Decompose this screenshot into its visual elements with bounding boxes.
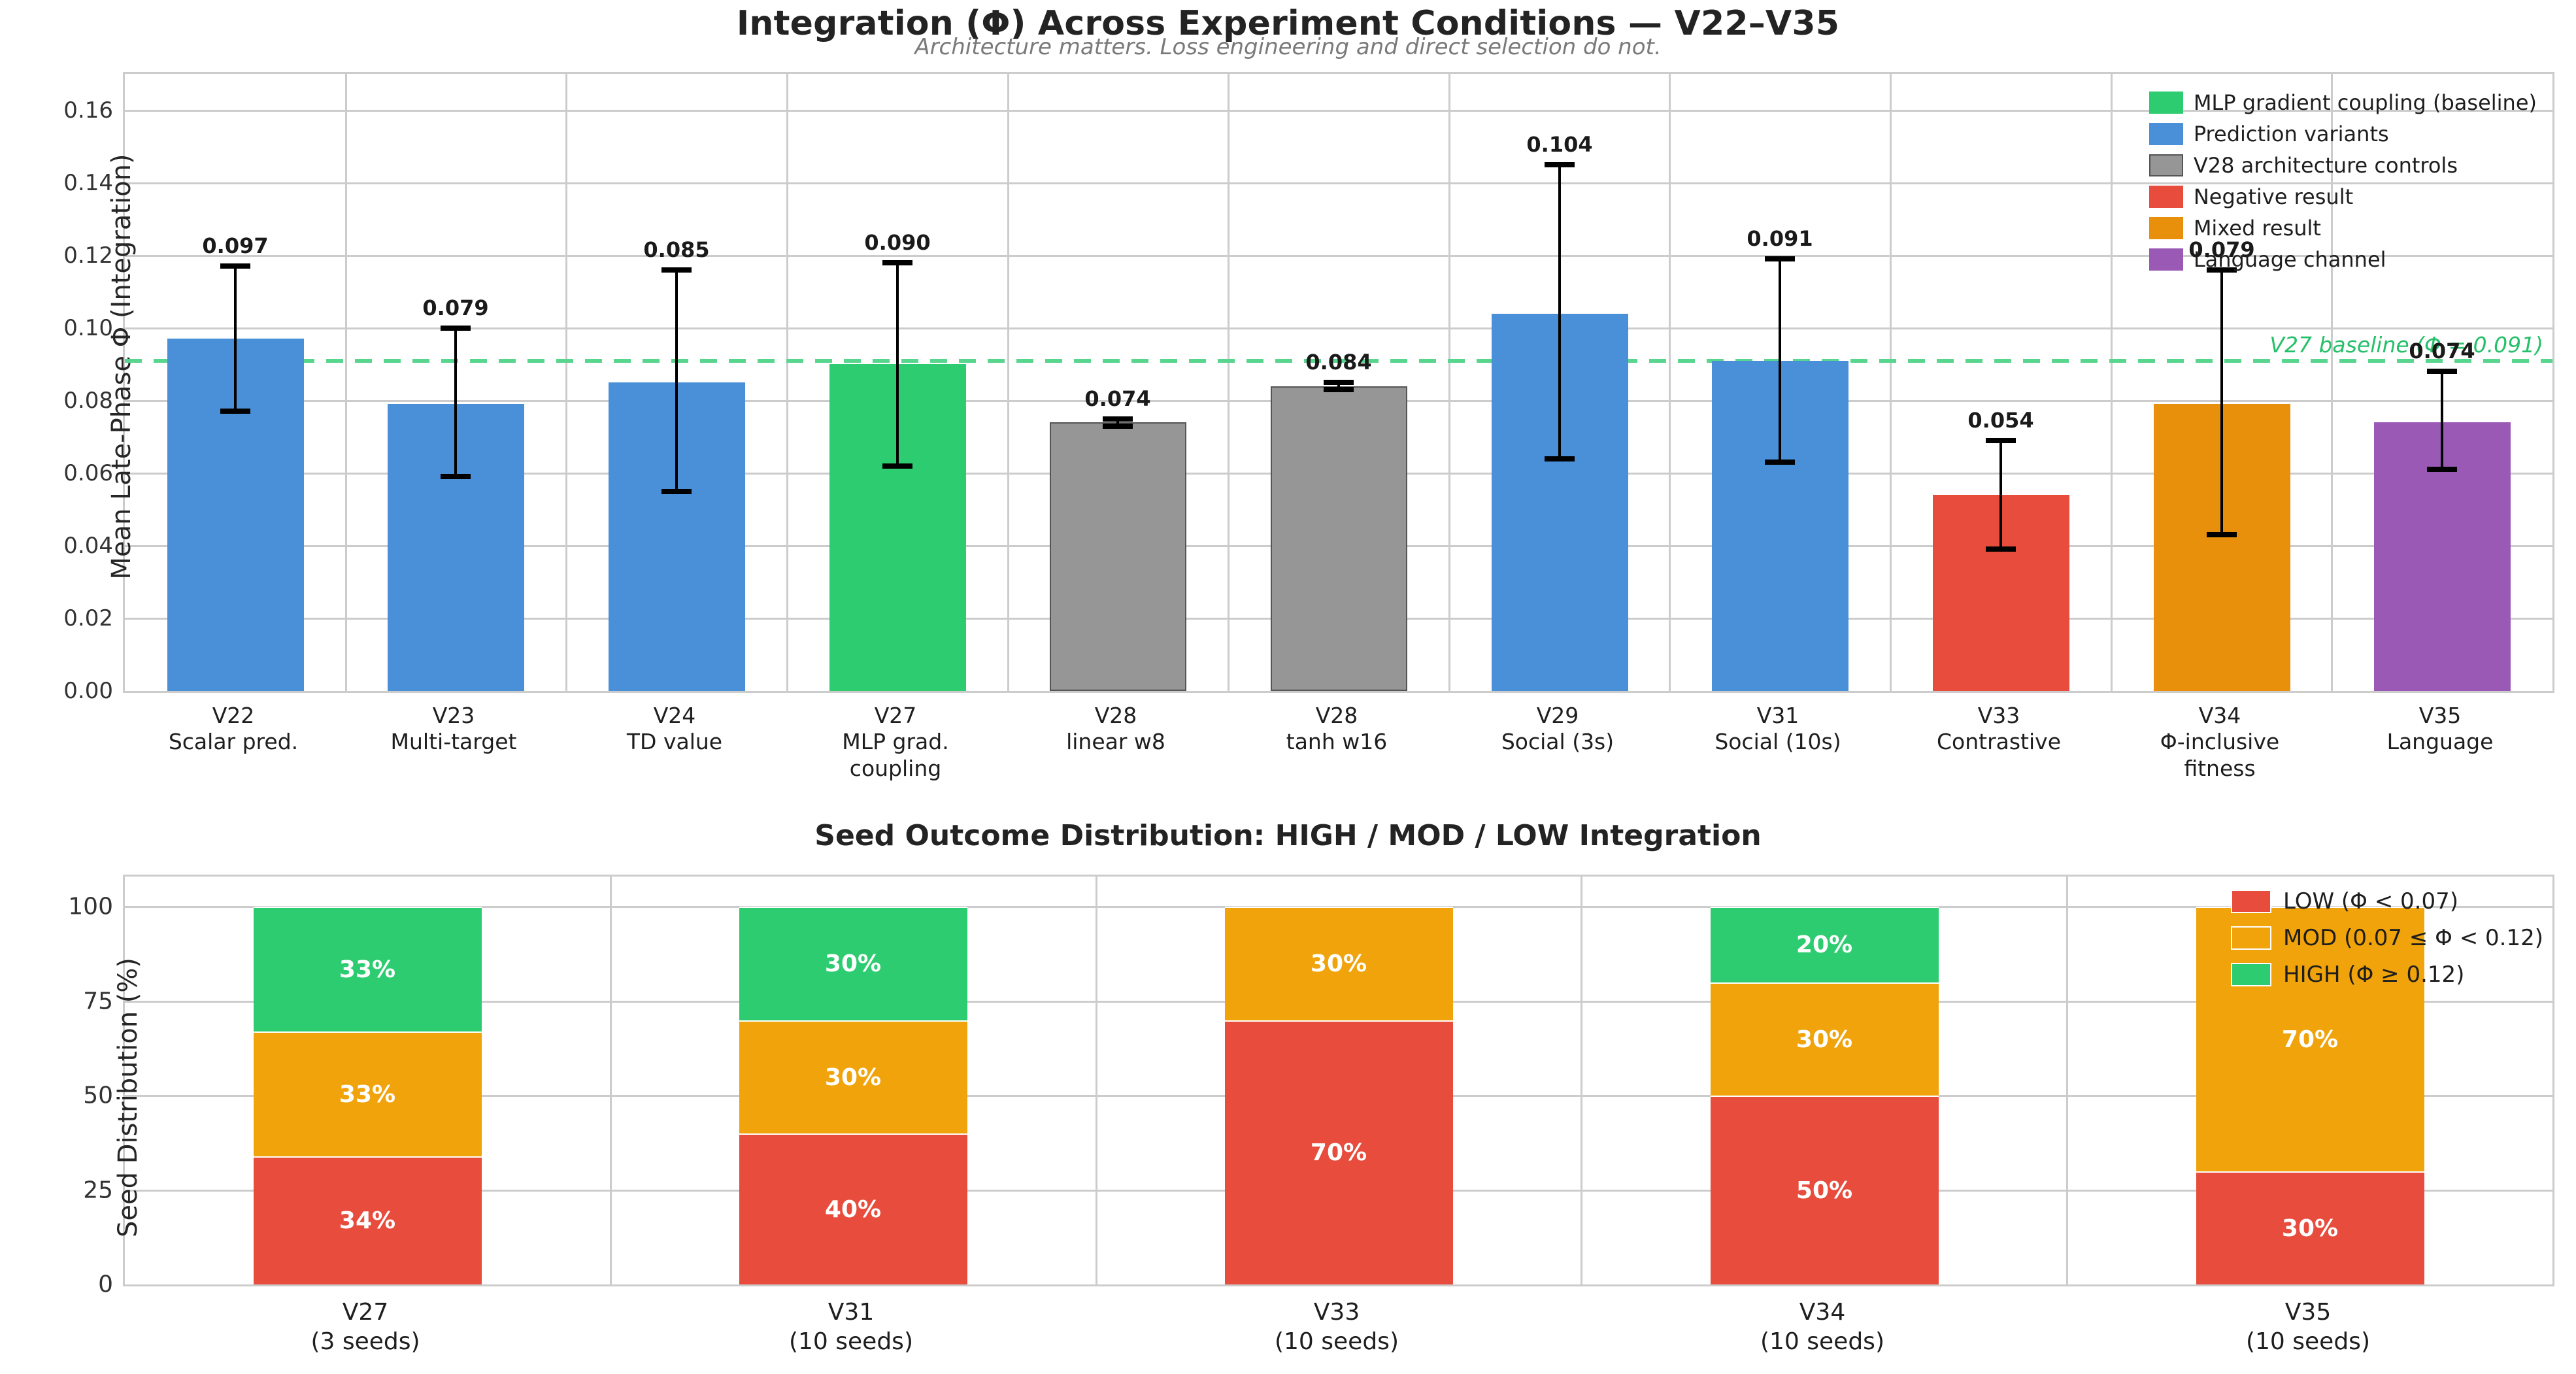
error-bar-cap-bottom [441,474,471,479]
legend2-item-0[interactable]: LOW (Φ < 0.07) [2231,883,2543,920]
legend2-label: HIGH (Φ ≥ 0.12) [2283,962,2464,988]
legend-panel1: MLP gradient coupling (baseline)Predicti… [2143,83,2543,279]
bar-v28-5[interactable] [1271,386,1407,691]
error-bar-cap-top [882,260,912,265]
error-bar-line [234,266,237,411]
stack-segment-label: 30% [1796,1026,1852,1053]
x-gridline [345,74,347,691]
y-tick-label-p1: 0.12 [0,243,113,269]
y-axis-label-p1: Mean Late-Phase Φ (Integration) [107,73,137,661]
y-tick-label-p2: 75 [0,988,113,1014]
x-gridline [1228,74,1229,691]
error-bar-cap-top [2427,369,2457,374]
x-gridline [1890,74,1892,691]
legend2-label: MOD (0.07 ≤ Φ < 0.12) [2283,925,2543,951]
stack-segment-v27-high[interactable]: 33% [254,907,482,1031]
error-bar-cap-bottom [1103,424,1133,429]
x-tick-label-p1-v35-10: V35Language [2303,703,2576,756]
error-bar-cap-bottom [2207,532,2237,537]
error-bar-line [1558,165,1561,459]
stack-segment-v34-mod[interactable]: 30% [1711,982,1939,1096]
stack-segment-v34-low[interactable]: 50% [1711,1096,1939,1284]
error-bar-line [2220,270,2223,535]
y-axis-label-p2: Seed Distribution (%) [113,843,143,1352]
stack-segment-label: 40% [825,1196,881,1223]
stack-segment-label: 30% [825,1064,881,1091]
stack-segment-v34-high[interactable]: 20% [1711,907,1939,982]
stack-segment-label: 34% [339,1207,395,1234]
stack-segment-v27-low[interactable]: 34% [254,1156,482,1284]
error-bar-line [675,270,678,492]
bar-value-label: 0.054 [1967,408,2033,433]
legend-item-1[interactable]: Prediction variants [2149,118,2537,150]
legend-swatch-blue [2149,123,2183,145]
x-gridline [1007,74,1009,691]
legend-item-0[interactable]: MLP gradient coupling (baseline) [2149,87,2537,118]
legend-item-2[interactable]: V28 architecture controls [2149,150,2537,181]
legend2-item-2[interactable]: HIGH (Φ ≥ 0.12) [2231,956,2543,993]
y-tick-label-p1: 0.02 [0,605,113,631]
stack-segment-label: 30% [1311,950,1367,977]
stack-segment-label: 33% [339,1081,395,1108]
stack-segment-label: 30% [825,950,881,977]
legend-swatch-grey [2149,154,2183,176]
y-tick-label-p1: 0.14 [0,170,113,196]
legend-label: Negative result [2194,184,2353,209]
bar-value-label: 0.091 [1747,226,1813,251]
legend-label: Mixed result [2194,216,2321,241]
legend-item-3[interactable]: Negative result [2149,181,2537,212]
y-tick-label-p1: 0.10 [0,315,113,341]
legend-swatch-orange [2149,217,2183,239]
seed-distribution-title: Seed Outcome Distribution: HIGH / MOD / … [0,819,2576,852]
legend-swatch-purple [2149,248,2183,271]
stack-segment-v27-mod[interactable]: 33% [254,1031,482,1156]
y-tick-label-p2: 50 [0,1082,113,1109]
error-bar-cap-bottom [1545,456,1575,461]
error-bar-cap-bottom [882,463,912,469]
bar-value-label: 0.084 [1305,350,1371,375]
v27-baseline-label: V27 baseline (Φ = 0.091) [2269,332,2543,358]
y-tick-label-p1: 0.08 [0,388,113,414]
bar-value-label: 0.074 [2409,339,2475,363]
error-bar-cap-top [441,326,471,331]
x-gridline [565,74,567,691]
y-tick-label-p1: 0.00 [0,678,113,704]
x-tick-label-p2-v33: V33(10 seeds) [1154,1298,1520,1356]
error-bar-cap-bottom [1986,546,2016,552]
legend2-swatch-green [2231,963,2271,986]
x-tick-label-p2-v34: V34(10 seeds) [1639,1298,2005,1356]
bar-value-label: 0.090 [864,230,930,255]
x-gridline [786,74,788,691]
x-gridline [1669,74,1671,691]
x-gridline-p2 [610,877,612,1284]
legend-label: MLP gradient coupling (baseline) [2194,90,2537,115]
y-tick-label-p2: 0 [0,1271,113,1298]
stack-segment-v31-mod[interactable]: 30% [739,1020,967,1133]
legend2-swatch-mod_orange [2231,926,2271,950]
error-bar-cap-bottom [1765,460,1795,465]
legend2-item-1[interactable]: MOD (0.07 ≤ Φ < 0.12) [2231,920,2543,956]
y-tick-label-p2: 100 [0,894,113,920]
stack-segment-v31-low[interactable]: 40% [739,1133,967,1284]
bar-value-label: 0.079 [422,295,488,320]
legend-panel2: LOW (Φ < 0.07)MOD (0.07 ≤ Φ < 0.12)HIGH … [2231,883,2543,993]
legend-swatch-green [2149,92,2183,114]
legend-item-4[interactable]: Mixed result [2149,212,2537,244]
stack-segment-v33-low[interactable]: 70% [1225,1020,1453,1284]
error-bar-cap-bottom [661,489,692,494]
error-bar-cap-top [1986,438,2016,443]
legend-label: Prediction variants [2194,122,2389,146]
x-gridline-p2 [1096,877,1097,1284]
stack-segment-label: 70% [2282,1026,2338,1053]
stack-segment-label: 50% [1796,1177,1852,1204]
bar-value-label: 0.097 [202,233,268,258]
stack-segment-v33-mod[interactable]: 30% [1225,907,1453,1020]
error-bar-cap-top [1103,416,1133,422]
error-bar-line [1779,259,1781,462]
error-bar-cap-top [220,263,250,269]
legend-swatch-red [2149,186,2183,208]
stack-segment-label: 70% [1311,1139,1367,1166]
error-bar-line [1999,441,2002,550]
bar-value-label: 0.085 [643,237,709,262]
error-bar-cap-top [1324,380,1354,385]
x-tick-label-p2-v35: V35(10 seeds) [2125,1298,2491,1356]
figure-subtitle: Architecture matters. Loss engineering a… [0,34,2576,60]
x-tick-label-p2-v31: V31(10 seeds) [668,1298,1034,1356]
stack-segment-label: 33% [339,956,395,983]
stack-segment-label: 30% [2282,1215,2338,1242]
error-bar-cap-top [1545,162,1575,167]
stack-segment-v35-low[interactable]: 30% [2196,1171,2424,1284]
legend2-label: LOW (Φ < 0.07) [2283,888,2458,914]
x-gridline [1448,74,1450,691]
bar-value-label: 0.104 [1526,132,1592,157]
legend2-swatch-red [2231,890,2271,913]
x-tick-label-p2-v27: V27(3 seeds) [182,1298,548,1356]
error-bar-cap-top [661,267,692,273]
y-gridline [125,327,2552,329]
x-gridline [2111,74,2113,691]
x-gridline-p2 [2066,877,2068,1284]
error-bar-line [896,263,899,466]
legend-item-5[interactable]: Language channel [2149,244,2537,275]
stack-segment-label: 20% [1796,931,1852,958]
seed-distribution-panel: 0255075100Seed Distribution (%)34%33%33%… [123,875,2554,1286]
legend-label: V28 architecture controls [2194,153,2458,178]
error-bar-cap-bottom [2427,467,2457,472]
bar-value-label: 0.074 [1084,386,1150,411]
integration-bar-chart-panel: 0.000.020.040.060.080.100.120.140.16Mean… [123,72,2554,693]
error-bar-line [454,328,457,477]
stack-segment-v31-high[interactable]: 30% [739,907,967,1020]
legend-label: Language channel [2194,247,2386,272]
error-bar-cap-top [1765,256,1795,261]
x-gridline-p2 [1581,877,1582,1284]
error-bar-cap-bottom [220,409,250,414]
y-tick-label-p1: 0.04 [0,533,113,559]
y-tick-label-p1: 0.06 [0,460,113,486]
y-tick-label-p2: 25 [0,1177,113,1203]
error-bar-cap-bottom [1324,387,1354,392]
error-bar-line [2441,371,2443,469]
y-tick-label-p1: 0.16 [0,97,113,124]
bar-v28-4[interactable] [1050,422,1186,691]
